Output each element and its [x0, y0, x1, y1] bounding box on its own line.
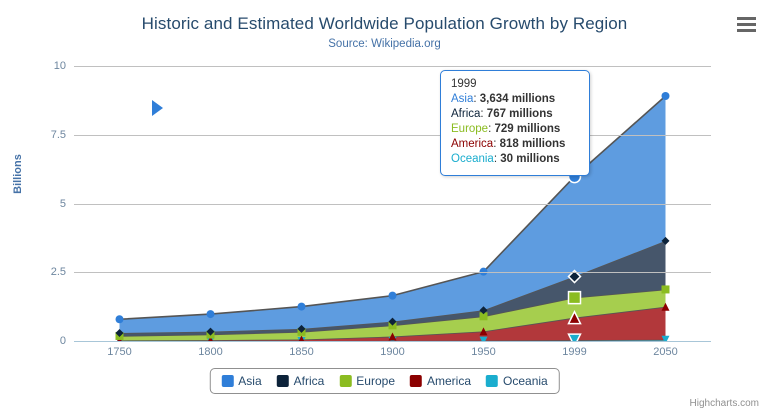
legend-item-europe[interactable]: Europe	[339, 374, 395, 388]
chart-title: Historic and Estimated Worldwide Populat…	[0, 14, 769, 34]
tooltip-header: 1999	[451, 78, 579, 90]
chart-tooltip: 1999 Asia: 3,634 millionsAfrica: 767 mil…	[440, 70, 590, 176]
hamburger-menu-icon[interactable]	[733, 14, 759, 36]
gridline	[74, 66, 711, 67]
y-axis-tick-label: 5	[26, 198, 66, 210]
tooltip-row-asia: Asia: 3,634 millions	[451, 92, 579, 107]
point-asia-1900[interactable]	[389, 292, 397, 300]
x-axis-tick-label: 1950	[454, 346, 514, 358]
tooltip-series-value: 729 millions	[494, 123, 560, 135]
legend-item-asia[interactable]: Asia	[221, 374, 261, 388]
hamburger-bar	[737, 29, 756, 32]
y-axis-tick-label: 2.5	[26, 266, 66, 278]
legend-swatch-icon	[486, 375, 498, 387]
point-asia-2050[interactable]	[662, 92, 670, 100]
legend-label: Asia	[238, 374, 261, 388]
hamburger-bar	[737, 23, 756, 26]
tooltip-series-value: 818 millions	[500, 138, 566, 150]
point-europe-2050[interactable]	[662, 285, 670, 293]
plot-area	[74, 66, 711, 341]
legend-item-america[interactable]: America	[410, 374, 471, 388]
y-axis-tick-label: 0	[26, 335, 66, 347]
legend-label: America	[427, 374, 471, 388]
x-axis-line	[74, 341, 711, 342]
legend-label: Africa	[294, 374, 325, 388]
legend-swatch-icon	[277, 375, 289, 387]
tooltip-row-america: America: 818 millions	[451, 137, 579, 152]
tooltip-series-value: 767 millions	[487, 108, 553, 120]
legend-swatch-icon	[339, 375, 351, 387]
credits-link[interactable]: Highcharts.com	[690, 398, 759, 409]
point-europe-1999[interactable]	[569, 292, 581, 304]
gridline	[74, 272, 711, 273]
legend-swatch-icon	[410, 375, 422, 387]
y-axis-labels: 02.557.510	[18, 66, 66, 341]
x-axis-tick-label: 1900	[363, 346, 423, 358]
chart-subtitle: Source: Wikipedia.org	[0, 38, 769, 50]
tooltip-row-europe: Europe: 729 millions	[451, 122, 579, 137]
hamburger-bar	[737, 17, 756, 20]
tooltip-row-africa: Africa: 767 millions	[451, 107, 579, 122]
x-axis-tick-label: 2050	[636, 346, 696, 358]
tooltip-series-name: Oceania	[451, 153, 494, 165]
tooltip-series-name: Asia	[451, 93, 473, 105]
gridline	[74, 204, 711, 205]
legend-item-africa[interactable]: Africa	[277, 374, 325, 388]
x-axis-tick-label: 1999	[545, 346, 605, 358]
tooltip-series-name: Europe	[451, 123, 488, 135]
x-axis-labels: 1750180018501900195019992050	[74, 346, 711, 364]
legend-label: Europe	[356, 374, 395, 388]
y-axis-tick-label: 7.5	[26, 129, 66, 141]
legend-label: Oceania	[503, 374, 548, 388]
x-axis-tick-label: 1850	[272, 346, 332, 358]
highcharts-container: Historic and Estimated Worldwide Populat…	[0, 0, 769, 416]
legend-swatch-icon	[221, 375, 233, 387]
tooltip-series-name: America	[451, 138, 493, 150]
point-asia-1800[interactable]	[207, 310, 215, 318]
chart-legend[interactable]: AsiaAfricaEuropeAmericaOceania	[209, 368, 559, 394]
gridline	[74, 135, 711, 136]
point-asia-1850[interactable]	[298, 303, 306, 311]
tooltip-series-name: Africa	[451, 108, 480, 120]
legend-item-oceania[interactable]: Oceania	[486, 374, 548, 388]
tooltip-pointer-icon	[152, 100, 163, 116]
x-axis-tick-label: 1750	[90, 346, 150, 358]
x-axis-tick-label: 1800	[181, 346, 241, 358]
tooltip-series-value: 3,634 millions	[480, 93, 555, 105]
y-axis-tick-label: 10	[26, 60, 66, 72]
tooltip-row-oceania: Oceania: 30 millions	[451, 152, 579, 167]
tooltip-series-value: 30 millions	[500, 153, 559, 165]
point-asia-1750[interactable]	[116, 315, 124, 323]
tooltip-rows: Asia: 3,634 millionsAfrica: 767 millions…	[451, 92, 579, 167]
